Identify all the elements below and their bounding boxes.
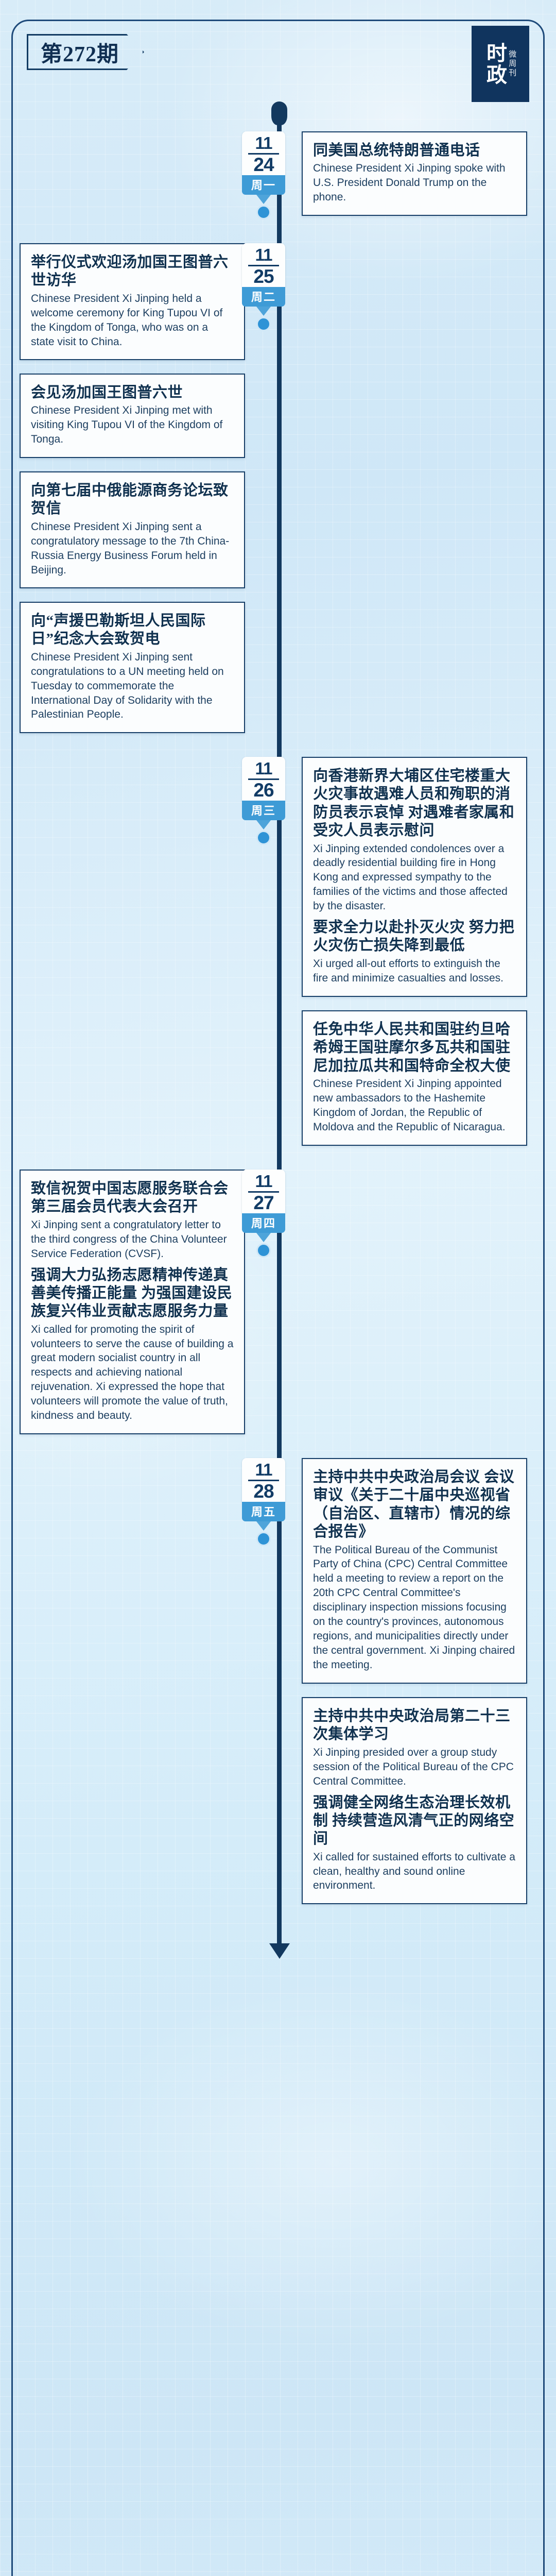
news-card[interactable]: 致信祝贺中国志愿服务联合会第三届会员代表大会召开Xi Jinping sent … (20, 1170, 245, 1434)
date-numerals: 1124 (242, 131, 285, 175)
date-month: 11 (242, 760, 285, 777)
news-card[interactable]: 同美国总统特朗普通电话Chinese President Xi Jinping … (302, 131, 527, 216)
poster-header: 第272期 时政 微周刊 (0, 0, 556, 111)
news-headline-cn: 主持中共中央政治局会议 会议审议《关于二十届中央巡视省（自治区、直辖市）情况的综… (313, 1468, 516, 1541)
news-summary-en: Chinese President Xi Jinping spoke with … (313, 161, 516, 205)
news-summary-en: Xi Jinping extended condolences over a d… (313, 842, 516, 914)
date-month: 11 (242, 134, 285, 152)
timeline-node-dot (256, 1532, 271, 1546)
date-month: 11 (242, 1173, 285, 1190)
timeline-axis-cap (271, 101, 287, 125)
news-headline-cn: 举行仪式欢迎汤加国王图普六世访华 (31, 253, 234, 290)
news-summary-en: The Political Bureau of the Communist Pa… (313, 1543, 516, 1672)
timeline-date-badge[interactable]: 1124周一 (242, 131, 285, 219)
date-day: 24 (242, 155, 285, 175)
timeline-node-dot (256, 831, 271, 845)
date-month: 11 (242, 246, 285, 264)
timeline-node-dot (256, 317, 271, 331)
news-headline-cn: 强调大力弘扬志愿精神传递真善美传播正能量 为强国建设民族复兴伟业贡献志愿服务力量 (31, 1266, 234, 1321)
shizheng-weekly-logo: 时政 微周刊 (472, 26, 529, 102)
news-timeline: 1124周一同美国总统特朗普通电话Chinese President Xi Ji… (0, 111, 556, 1990)
news-headline-cn: 会见汤加国王图普六世 (31, 384, 234, 402)
news-headline-cn: 向香港新界大埔区住宅楼重大火灾事故遇难人员和殉职的消防员表示哀悼 对遇难者家属和… (313, 767, 516, 840)
date-badge-nib-icon (256, 307, 271, 316)
timeline-date-badge[interactable]: 1128周五 (242, 1458, 285, 1546)
news-summary-en: Xi urged all-out efforts to extinguish t… (313, 957, 516, 986)
news-card[interactable]: 向第七届中俄能源商务论坛致贺信Chinese President Xi Jinp… (20, 471, 245, 588)
timeline-axis-line (277, 111, 282, 1943)
date-badge-nib-icon (256, 1233, 271, 1242)
logo-sub-text: 微周刊 (507, 50, 516, 78)
date-weekday: 周二 (242, 287, 285, 307)
timeline-date-badge[interactable]: 1126周三 (242, 757, 285, 845)
date-month: 11 (242, 1461, 285, 1479)
news-card[interactable]: 主持中共中央政治局第二十三次集体学习Xi Jinping presided ov… (302, 1697, 527, 1904)
timeline-date-badge[interactable]: 1127周四 (242, 1170, 285, 1258)
news-headline-cn: 要求全力以赴扑灭火灾 努力把火灾伤亡损失降到最低 (313, 919, 516, 955)
news-card[interactable]: 任免中华人民共和国驻约旦哈希姆王国驻摩尔多瓦共和国驻尼加拉瓜共和国特命全权大使C… (302, 1010, 527, 1146)
news-headline-cn: 主持中共中央政治局第二十三次集体学习 (313, 1707, 516, 1744)
date-numerals: 1126 (242, 757, 285, 801)
news-summary-en: Chinese President Xi Jinping appointed n… (313, 1077, 516, 1134)
news-headline-cn: 向第七届中俄能源商务论坛致贺信 (31, 482, 234, 518)
date-weekday: 周五 (242, 1502, 285, 1521)
date-weekday: 周一 (242, 175, 285, 195)
date-badge-nib-icon (256, 195, 271, 204)
date-day: 27 (242, 1193, 285, 1213)
timeline-date-badge[interactable]: 1125周二 (242, 243, 285, 331)
timeline-end-arrow-icon (269, 1943, 290, 1959)
date-day: 25 (242, 267, 285, 286)
date-badge-nib-icon (256, 820, 271, 829)
news-headline-cn: 致信祝贺中国志愿服务联合会第三届会员代表大会召开 (31, 1180, 234, 1216)
news-card[interactable]: 主持中共中央政治局会议 会议审议《关于二十届中央巡视省（自治区、直辖市）情况的综… (302, 1458, 527, 1684)
news-summary-en: Xi called for sustained efforts to culti… (313, 1850, 516, 1893)
news-headline-cn: 强调健全网络生态治理长效机制 持续营造风清气正的网络空间 (313, 1794, 516, 1849)
timeline-node-dot (256, 1243, 271, 1258)
news-card[interactable]: 会见汤加国王图普六世Chinese President Xi Jinping m… (20, 374, 245, 458)
news-card[interactable]: 向“声援巴勒斯坦人民国际日”纪念大会致贺电Chinese President X… (20, 602, 245, 733)
news-card[interactable]: 举行仪式欢迎汤加国王图普六世访华Chinese President Xi Jin… (20, 243, 245, 360)
date-weekday: 周四 (242, 1213, 285, 1233)
logo-main-text: 时政 (485, 42, 505, 86)
news-summary-en: Chinese President Xi Jinping sent congra… (31, 650, 234, 722)
news-summary-en: Xi called for promoting the spirit of vo… (31, 1323, 234, 1423)
news-summary-en: Xi Jinping sent a congratulatory letter … (31, 1218, 234, 1261)
news-summary-en: Chinese President Xi Jinping met with vi… (31, 403, 234, 447)
issue-number-label: 第272期 (27, 34, 144, 70)
news-headline-cn: 向“声援巴勒斯坦人民国际日”纪念大会致贺电 (31, 612, 234, 649)
date-day: 28 (242, 1482, 285, 1501)
issue-number-badge: 第272期 (27, 34, 144, 70)
news-headline-cn: 任免中华人民共和国驻约旦哈希姆王国驻摩尔多瓦共和国驻尼加拉瓜共和国特命全权大使 (313, 1021, 516, 1075)
timeline-node-dot (256, 205, 271, 219)
news-summary-en: Xi Jinping presided over a group study s… (313, 1745, 516, 1789)
date-day: 26 (242, 781, 285, 800)
date-weekday: 周三 (242, 801, 285, 820)
news-summary-en: Chinese President Xi Jinping held a welc… (31, 292, 234, 349)
date-numerals: 1127 (242, 1170, 285, 1213)
date-numerals: 1125 (242, 243, 285, 287)
news-headline-cn: 同美国总统特朗普通电话 (313, 142, 516, 160)
date-numerals: 1128 (242, 1458, 285, 1502)
date-badge-nib-icon (256, 1521, 271, 1531)
news-summary-en: Chinese President Xi Jinping sent a cong… (31, 520, 234, 578)
news-card[interactable]: 向香港新界大埔区住宅楼重大火灾事故遇难人员和殉职的消防员表示哀悼 对遇难者家属和… (302, 757, 527, 997)
